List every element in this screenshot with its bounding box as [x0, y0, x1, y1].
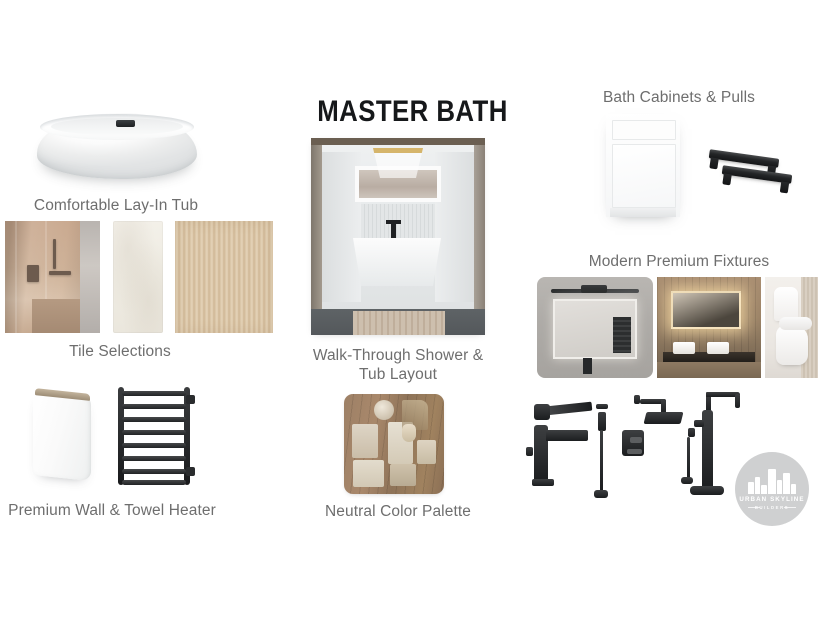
caption-fixtures: Modern Premium Fixtures — [548, 253, 810, 272]
towel-warmer-image — [118, 387, 190, 485]
fixture-toilet — [765, 277, 818, 378]
master-bath-photo — [311, 138, 485, 335]
logo-line-2: BUILDERS — [735, 505, 809, 510]
caption-center-photo: Walk-Through Shower & Tub Layout — [300, 347, 496, 385]
tile-swatch-fluted-wood — [175, 221, 273, 333]
wall-panel-heater-image — [33, 390, 91, 481]
caption-cabinets: Bath Cabinets & Pulls — [548, 89, 810, 108]
caption-tiles: Tile Selections — [0, 343, 240, 362]
cabinet-pull-2 — [722, 165, 793, 184]
tile-swatch-travertine — [113, 221, 163, 333]
mood-board: MASTER BATH Comfortable Lay-In Tub Tile … — [0, 0, 825, 619]
caption-heater: Premium Wall & Towel Heater — [0, 502, 224, 521]
shaker-cabinet-image — [606, 114, 680, 217]
skyline-icon — [748, 468, 796, 494]
urban-skyline-builders-logo: URBAN SKYLINE BUILDERS — [735, 452, 809, 526]
logo-line-1: URBAN SKYLINE — [735, 496, 809, 503]
caption-palette: Neutral Color Palette — [300, 503, 496, 522]
chandelier-icon — [373, 148, 423, 178]
tile-swatch-shower — [5, 221, 100, 333]
caption-tub: Comfortable Lay-In Tub — [0, 197, 232, 216]
fixture-backlit-mirror — [657, 277, 761, 378]
tub-image — [20, 95, 270, 190]
color-palette-image — [344, 394, 444, 494]
fixture-framed-mirror — [537, 277, 653, 378]
cabinet-pull-1 — [709, 149, 780, 168]
tub-drain-icon — [116, 120, 135, 127]
